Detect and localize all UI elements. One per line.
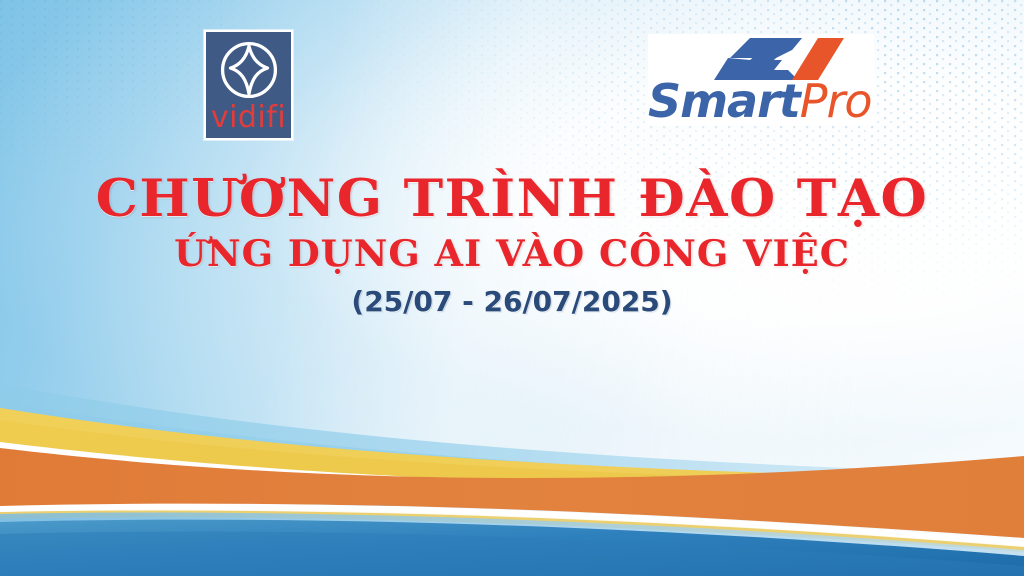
smartpro-word-primary: Smart bbox=[648, 74, 800, 128]
page-subtitle: ỨNG DỤNG AI VÀO CÔNG VIỆC bbox=[0, 235, 1024, 274]
presentation-title-slide: vidifi SmartPro CHƯƠNG TRÌNH ĐÀO TẠO ỨNG… bbox=[0, 0, 1024, 576]
title-block: CHƯƠNG TRÌNH ĐÀO TẠO ỨNG DỤNG AI VÀO CÔN… bbox=[0, 172, 1024, 318]
smartpro-wordmark: SmartPro bbox=[648, 77, 870, 125]
vidifi-circle-star-emblem-icon bbox=[216, 37, 282, 103]
date-range: (25/07 - 26/07/2025) bbox=[0, 287, 1024, 318]
page-title: CHƯƠNG TRÌNH ĐÀO TẠO bbox=[0, 172, 1024, 226]
smartpro-word-secondary: Pro bbox=[800, 74, 872, 128]
bottom-wave-decoration bbox=[0, 356, 1024, 576]
smartpro-logo: SmartPro bbox=[648, 34, 874, 126]
vidifi-logo: vidifi bbox=[204, 30, 293, 140]
vidifi-wordmark: vidifi bbox=[206, 103, 291, 133]
